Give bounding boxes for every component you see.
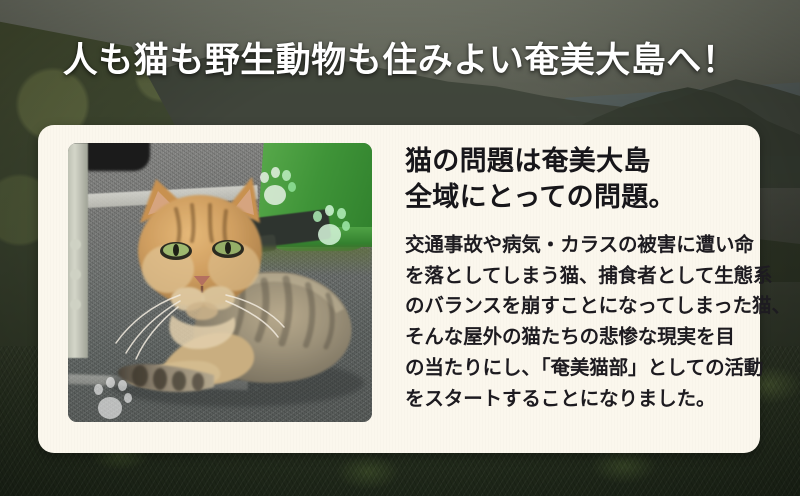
card-body-line-2: を落としてしまう猫、捕食者として生態系 <box>405 261 735 292</box>
card-heading-line-2: 全域にとっての問題。 <box>405 180 735 216</box>
card-heading: 猫の問題は奄美大島 全域にとっての問題。 <box>405 144 735 216</box>
card-body-line-3: のバランスを崩すことになってしまった猫、 <box>405 291 735 322</box>
content-card: 猫の問題は奄美大島 全域にとっての問題。 交通事故や病気・カラスの被害に遭い命 … <box>38 125 760 453</box>
paw-print-green <box>308 203 350 249</box>
card-body-line-1: 交通事故や病気・カラスの被害に遭い命 <box>405 230 735 261</box>
banner-headline: 人も猫も野生動物も住みよい奄美大島へ！ <box>0 42 800 81</box>
card-body: 交通事故や病気・カラスの被害に遭い命 を落としてしまう猫、捕食者として生態系 の… <box>405 230 735 415</box>
paw-print-white-lower <box>90 375 132 421</box>
card-text-column: 猫の問題は奄美大島 全域にとっての問題。 交通事故や病気・カラスの被害に遭い命 … <box>405 144 735 415</box>
card-body-line-4: そんな屋外の猫たちの悲惨な現実を目 <box>405 322 735 353</box>
card-body-line-6: をスタートすることになりました。 <box>405 384 735 415</box>
banner-stage: 人も猫も野生動物も住みよい奄美大島へ！ <box>0 0 800 496</box>
cat-photo <box>68 143 372 422</box>
card-body-line-5: の当たりにし、「奄美猫部」としての活動 <box>405 353 735 384</box>
paw-print-white-upper <box>254 165 294 209</box>
card-heading-line-1: 猫の問題は奄美大島 <box>405 144 735 180</box>
